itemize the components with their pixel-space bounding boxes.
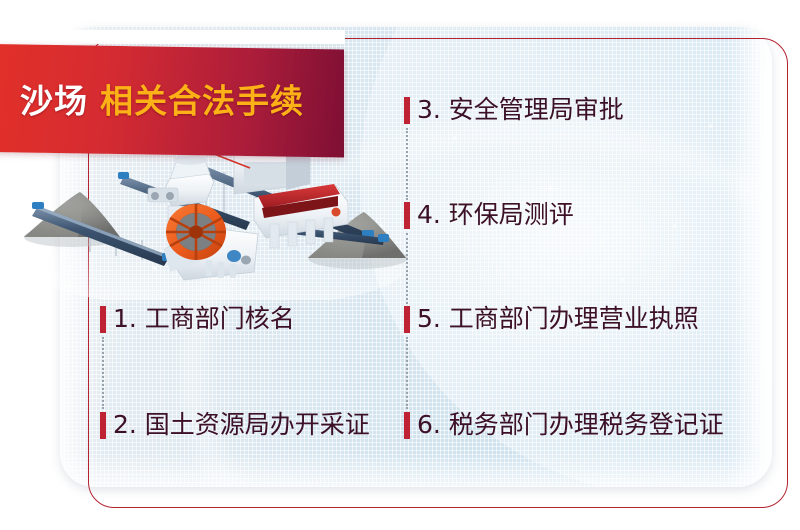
title-banner: 沙场 相关合法手续 [0, 44, 344, 157]
step-item-2[interactable]: 2. 国土资源局办开采证 [100, 412, 370, 439]
sparkle-9 [152, 265, 158, 271]
banner-tag: 沙场 [20, 84, 88, 117]
step-label-2: 2. 国土资源局办开采证 [113, 412, 370, 438]
step-label-5: 5. 工商部门办理营业执照 [417, 306, 699, 332]
sparkle-12 [220, 177, 225, 182]
sparkle-8 [708, 123, 714, 129]
step-marker-icon [404, 97, 410, 124]
sparkle-5 [378, 223, 384, 229]
step-item-5[interactable]: 5. 工商部门办理营业执照 [404, 306, 699, 333]
connector-step-5-6 [406, 337, 408, 409]
border-mask [0, 30, 345, 44]
infographic-stage: 沙场 相关合法手续 1. 工商部门核名 2. 国土资源局办开采证 3. 安全管理… [0, 0, 800, 530]
step-item-3[interactable]: 3. 安全管理局审批 [404, 97, 624, 124]
sparkle-3 [452, 135, 458, 141]
step-item-6[interactable]: 6. 税务部门办理税务登记证 [404, 412, 724, 439]
step-marker-icon [404, 202, 410, 229]
sparkle-6 [620, 277, 626, 283]
step-marker-icon [404, 412, 410, 439]
step-item-4[interactable]: 4. 环保局测评 [404, 202, 574, 229]
connector-step-1-2 [102, 337, 104, 409]
connector-step-3-4 [406, 128, 408, 200]
sparkle-4 [547, 185, 554, 192]
step-label-1: 1. 工商部门核名 [113, 306, 295, 332]
step-marker-icon [100, 306, 106, 333]
connector-step-4-5 [406, 233, 408, 304]
step-label-4: 4. 环保局测评 [417, 202, 574, 228]
sparkle-11 [672, 223, 678, 229]
step-item-1[interactable]: 1. 工商部门核名 [100, 306, 295, 333]
panel-bottom-fade [60, 453, 772, 487]
step-label-6: 6. 税务部门办理税务登记证 [417, 412, 724, 438]
panel-right-fade [726, 27, 772, 487]
sparkle-7 [266, 215, 272, 221]
step-marker-icon [404, 306, 410, 333]
banner-title: 相关合法手续 [100, 84, 304, 117]
step-label-3: 3. 安全管理局审批 [417, 97, 624, 123]
step-marker-icon [100, 412, 106, 439]
